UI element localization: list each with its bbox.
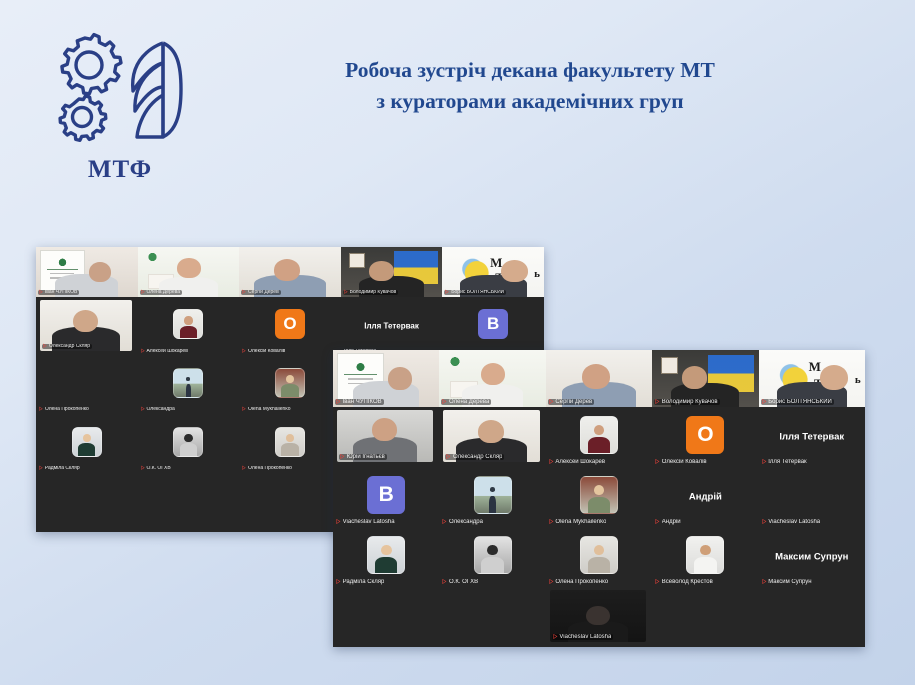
participant-name-badge: ▷Olena Mykhailenko (241, 407, 292, 412)
empty-gallery-slot (239, 473, 341, 532)
person-head (487, 545, 498, 556)
participant-name: Радміла Скляр (343, 579, 385, 585)
participant-name-badge: ▷Олександр Скляр (445, 454, 504, 460)
participant-tile[interactable]: ▷Юрій Ігнатьєв (333, 407, 439, 467)
mic-muted-icon: ▷ (43, 344, 46, 349)
participant-tile[interactable]: ▷Viacheslav Latosha (546, 587, 652, 647)
person-torso (588, 497, 610, 513)
participant-name-badge: ▷Олексій Ковалів (241, 349, 287, 354)
mic-muted-icon: ▷ (340, 454, 344, 460)
participant-name: Володимир Кувачов (662, 399, 718, 405)
person-torso (281, 443, 298, 455)
gallery-row: ▷Радміла Скляр ▷О.К. ОГХВ ▷Олена Прокопе… (333, 527, 865, 587)
participant-name-badge: ▷Viacheslav Latosha (761, 519, 823, 525)
person-head (177, 258, 200, 278)
participant-tile[interactable]: Ілля Тетервак▷Ілля Тетервак (759, 407, 865, 467)
participant-video-tile[interactable]: ▷Viacheslav Latosha (550, 590, 646, 642)
participant-name-badge: ▷Володимир Кувачов (654, 399, 719, 405)
person-head (274, 259, 300, 281)
participant-name-badge: ▷Володимир Кувачов (343, 290, 398, 295)
participant-name-badge: ▷Радміла Скляр (335, 579, 386, 585)
mic-muted-icon: ▷ (446, 290, 449, 295)
participant-centered-name: Ілля Тетервак (759, 432, 865, 443)
cert-line (344, 374, 377, 375)
mic-muted-icon: ▷ (141, 407, 144, 412)
participant-name: Володимир Кувачов (350, 290, 397, 295)
person-head (490, 487, 495, 491)
participant-tile[interactable]: Максим Супрун▷Максим Супрун (759, 527, 865, 587)
participant-name: Іван ЧУПІКОВ (343, 399, 382, 405)
participant-tile[interactable]: ▷Володимир Кувачов (652, 350, 758, 407)
participant-name: Сергій Дерев (555, 399, 592, 405)
picture-frame (661, 357, 678, 374)
participant-name: Viacheslav Latosha (768, 519, 820, 525)
participant-name: Viacheslav Latosha (343, 519, 395, 525)
mic-muted-icon: ▷ (549, 399, 553, 405)
participant-name-badge: ▷Олександра (140, 407, 177, 412)
page-title-line-1: Робоча зустріч декана факультету МТ (250, 55, 810, 86)
participant-tile[interactable]: М Т ь▷Борис БОЛТЯНСЬКИЙ (759, 350, 865, 407)
participant-name: Іван ЧУПІКОВ (45, 290, 78, 295)
participant-name: Борис БОЛТЯНСЬКИЙ (768, 399, 832, 405)
empty-gallery-slot (652, 587, 758, 647)
participant-name: Олександр Скляр (453, 454, 502, 460)
poster-text: ь (534, 268, 540, 280)
mic-muted-icon: ▷ (656, 519, 660, 525)
mic-muted-icon: ▷ (243, 349, 246, 354)
participant-avatar-photo (474, 536, 512, 574)
participant-tile[interactable]: ▷Алексей Шокарев (138, 297, 240, 356)
person-torso (78, 443, 95, 455)
person-head (594, 545, 605, 556)
empty-gallery-slot (759, 587, 865, 647)
mic-muted-icon: ▷ (443, 519, 447, 525)
person-torso (694, 557, 716, 573)
participant-name-badge: ▷Олена Прокопенко (548, 579, 610, 585)
mic-muted-icon: ▷ (141, 290, 144, 295)
person-torso (180, 443, 197, 455)
mic-muted-icon: ▷ (39, 290, 42, 295)
cert-line (348, 378, 373, 379)
participant-avatar-photo (72, 427, 102, 457)
participant-tile[interactable]: ▷Olena Mykhailenko (239, 356, 341, 415)
participant-avatar-photo (275, 427, 305, 457)
participant-tile[interactable]: ▷Olena Mykhailenko (546, 467, 652, 527)
person-head (184, 316, 192, 324)
participant-avatar-photo (580, 536, 618, 574)
participant-tile[interactable]: М Т ь▷Борис БОЛТЯНСЬКИЙ (442, 247, 544, 297)
participant-name-badge: ▷Максим Супрун (761, 579, 814, 585)
mic-muted-icon: ▷ (656, 459, 660, 465)
person-torso (375, 557, 397, 573)
person-head (286, 434, 294, 442)
person-head (372, 418, 397, 441)
participant-avatar-photo (686, 536, 724, 574)
participant-name: Сергій Дерев (248, 290, 279, 295)
participant-name-badge: ▷Олександр Скляр (42, 344, 92, 349)
mic-muted-icon: ▷ (141, 466, 144, 471)
participant-name: Олена Дерева (146, 290, 180, 295)
person-torso (588, 557, 610, 573)
participant-tile[interactable]: ▷Олена Прокопенко (36, 356, 138, 415)
participant-tile[interactable]: ▷Олександр Скляр (36, 297, 138, 356)
mic-muted-icon: ▷ (344, 290, 347, 295)
person-head (89, 262, 111, 282)
participant-name: Олена Дерева (449, 399, 489, 405)
participant-centered-name: Андрій (652, 492, 758, 503)
page-title: Робоча зустріч декана факультету МТ з ку… (250, 55, 810, 116)
mic-muted-icon: ▷ (447, 454, 451, 460)
leaf-icon (57, 257, 68, 266)
participant-name: Ілля Тетервак (768, 459, 807, 465)
mic-muted-icon: ▷ (336, 399, 340, 405)
participant-tile[interactable]: ▷Олександра (138, 356, 240, 415)
participant-avatar-photo (173, 427, 203, 457)
person-torso (588, 437, 610, 453)
person-head (184, 434, 192, 442)
participant-name-badge: ▷Алексей Шокарев (548, 459, 607, 465)
leaf-icon (355, 361, 367, 371)
participant-tile[interactable]: ▷Олена Прокопенко (546, 527, 652, 587)
participant-name: Олександра (146, 407, 174, 412)
participant-video-tile[interactable]: ▷Юрій Ігнатьєв (337, 410, 433, 462)
participant-name-badge: ▷Viacheslav Latosha (552, 634, 614, 640)
mic-muted-icon: ▷ (549, 459, 553, 465)
mic-muted-icon: ▷ (243, 407, 246, 412)
mic-muted-icon: ▷ (549, 519, 553, 525)
cert-line (47, 269, 79, 270)
logo-label: МТФ (88, 156, 152, 184)
mic-muted-icon: ▷ (656, 399, 660, 405)
participant-name: Олександра (449, 519, 483, 525)
participant-name: О.К. ОГХВ (449, 579, 478, 585)
participant-avatar-initial: О (686, 416, 724, 454)
person-head (73, 310, 98, 332)
participant-tile[interactable]: ▷Сергій Дерев (239, 247, 341, 297)
participant-avatar-photo (474, 476, 512, 514)
gallery-row: В▷Viacheslav Latosha ▷Олександра ▷Olena … (333, 467, 865, 527)
participant-video-tile[interactable]: ▷Олександр Скляр (40, 300, 132, 351)
participant-avatar-photo (173, 309, 203, 339)
person-torso (481, 557, 503, 573)
participant-name-badge: ▷Борис БОЛТЯНСЬКИЙ (444, 290, 506, 295)
participant-name: Алексей Шокарев (146, 349, 187, 354)
mic-muted-icon: ▷ (443, 399, 447, 405)
participant-name-badge: ▷О.К. ОГХВ (140, 466, 173, 471)
person-head (594, 485, 605, 496)
active-speaker-strip: ▷Іван ЧУПІКОВ ▷Олена Дерева▷Сергій Дерев… (333, 350, 865, 407)
participant-avatar-initial: В (367, 476, 405, 514)
participant-name: Viacheslav Latosha (559, 634, 611, 640)
participant-name-badge: ▷Юрій Ігнатьєв (339, 454, 387, 460)
mic-muted-icon: ▷ (39, 407, 42, 412)
participant-tile[interactable]: ▷Радміла Скляр (333, 527, 439, 587)
gallery-row: ▷Юрій Ігнатьєв▷Олександр Скляр ▷Алексей … (333, 407, 865, 467)
front-meeting-screenshot[interactable]: ▷Іван ЧУПІКОВ ▷Олена Дерева▷Сергій Дерев… (333, 350, 865, 647)
mic-muted-icon: ▷ (553, 634, 557, 640)
participant-tile[interactable]: ▷Viacheslav Latosha (759, 467, 865, 527)
mic-muted-icon: ▷ (443, 579, 447, 585)
participant-name-badge: ▷Олена Прокопенко (38, 407, 91, 412)
participant-tile[interactable]: О▷Олексій Ковалів (652, 407, 758, 467)
mic-muted-icon: ▷ (336, 519, 340, 525)
mic-muted-icon: ▷ (336, 579, 340, 585)
participant-name: Юрій Ігнатьєв (347, 454, 385, 460)
person-head (820, 365, 848, 390)
participant-video-tile[interactable]: ▷Олександр Скляр (443, 410, 539, 462)
mic-muted-icon: ▷ (549, 579, 553, 585)
poster-letter-m: М (809, 359, 821, 375)
participant-tile[interactable]: ▷Радміла Скляр (36, 415, 138, 474)
participant-name: Olena Mykhailenko (248, 407, 291, 412)
empty-gallery-slot (439, 587, 545, 647)
participant-tile[interactable]: ▷О.К. ОГХВ (138, 415, 240, 474)
person-head (83, 434, 91, 442)
participant-name-badge: ▷Олена Дерева (140, 290, 182, 295)
participant-name: Андрій (662, 519, 681, 525)
person-head (286, 375, 294, 383)
person-head (388, 367, 411, 390)
participant-name: Олексій Ковалів (248, 349, 285, 354)
mic-muted-icon: ▷ (762, 399, 766, 405)
gallery-row: ▷Viacheslav Latosha (333, 587, 865, 647)
participant-name: Олена Прокопенко (248, 466, 292, 471)
page-title-line-2: з кураторами академічних груп (250, 86, 810, 117)
person-head (478, 420, 504, 443)
participant-tile[interactable]: О▷Олексій Ковалів (239, 297, 341, 356)
participant-name-badge: ▷Олена Прокопенко (241, 466, 294, 471)
person-head (582, 364, 610, 389)
participant-tile[interactable]: ▷Олена Дерева (439, 350, 545, 407)
participant-name-badge: ▷Радміла Скляр (38, 466, 82, 471)
empty-gallery-slot (36, 473, 138, 532)
gears-leaf-logo-icon (45, 25, 195, 150)
participant-name-badge: ▷Viacheslav Latosha (335, 519, 397, 525)
participant-name-badge: ▷Олександра (441, 519, 485, 525)
participant-name: Олена Прокопенко (555, 579, 608, 585)
participant-avatar-initial: О (275, 309, 305, 339)
person-torso (180, 326, 197, 338)
participant-name-badge: ▷Олена Дерева (441, 399, 491, 405)
participant-name-badge: ▷Алексей Шокарев (140, 349, 190, 354)
participant-avatar-photo (580, 416, 618, 454)
participant-avatar-photo (367, 536, 405, 574)
participant-tile[interactable]: ▷О.К. ОГХВ (439, 527, 545, 587)
participant-name: Olena Mykhailenko (555, 519, 606, 525)
participant-name-badge: ▷Сергій Дерев (548, 399, 594, 405)
leaf-icon (448, 355, 462, 366)
person-torso (489, 496, 495, 513)
participant-tile[interactable]: Ілля ТетервакІлля Тетервак (341, 297, 443, 356)
participant-tile[interactable]: ▷Олександра (439, 467, 545, 527)
person-head (481, 363, 505, 386)
participant-tile[interactable]: ▷Олена Прокопенко (239, 415, 341, 474)
participant-avatar-photo (580, 476, 618, 514)
participant-tile[interactable]: ▷Сергій Дерев (546, 350, 652, 407)
participant-tile[interactable]: В▷Viacheslav Latosha (333, 467, 439, 527)
participant-name-badge: ▷Всеволод Крестов (654, 579, 715, 585)
person-head (594, 425, 605, 436)
participant-avatar-photo (173, 368, 203, 398)
participant-name-badge: ▷Іван ЧУПІКОВ (38, 290, 79, 295)
participant-name: Олексій Ковалів (662, 459, 707, 465)
participant-gallery: ▷Юрій Ігнатьєв▷Олександр Скляр ▷Алексей … (333, 407, 865, 647)
person-head (186, 377, 190, 380)
participant-name-badge: ▷Ілля Тетервак (761, 459, 809, 465)
person-head (700, 545, 711, 556)
participant-name: Алексей Шокарев (555, 459, 605, 465)
person-torso (281, 384, 298, 396)
participant-name-badge: ▷Сергій Дерев (241, 290, 281, 295)
participant-centered-name: Максим Супрун (759, 552, 865, 563)
mic-muted-icon: ▷ (762, 459, 766, 465)
empty-gallery-slot (333, 587, 439, 647)
mic-muted-icon: ▷ (243, 290, 246, 295)
participant-name-badge: ▷Борис БОЛТЯНСЬКИЙ (761, 399, 834, 405)
participant-name-badge: ▷Андрій (654, 519, 682, 525)
participant-name: Всеволод Крестов (662, 579, 713, 585)
participant-name-badge: ▷Олексій Ковалів (654, 459, 708, 465)
participant-tile[interactable]: Андрій▷Андрій (652, 467, 758, 527)
person-head (381, 545, 392, 556)
participant-name: Олена Прокопенко (45, 407, 89, 412)
participant-name-badge: ▷Olena Mykhailenko (548, 519, 609, 525)
empty-gallery-slot (138, 473, 240, 532)
picture-frame (349, 253, 365, 268)
participant-avatar-initial: В (478, 309, 508, 339)
mic-muted-icon: ▷ (39, 466, 42, 471)
participant-tile[interactable]: ▷Всеволод Крестов (652, 527, 758, 587)
poster-text: ь (855, 374, 861, 386)
person-head (682, 366, 708, 389)
participant-name: О.К. ОГХВ (146, 466, 170, 471)
person-torso (186, 384, 191, 397)
participant-centered-name: Ілля Тетервак (341, 322, 443, 331)
mic-muted-icon: ▷ (243, 466, 246, 471)
participant-name: Максим Супрун (768, 579, 811, 585)
participant-tile[interactable]: ▷Іван ЧУПІКОВ (36, 247, 138, 297)
mic-muted-icon: ▷ (141, 349, 144, 354)
participant-tile[interactable]: ▷Алексей Шокарев (546, 407, 652, 467)
gallery-row: ▷Олександр Скляр ▷Алексей ШокаревО▷Олекс… (36, 297, 544, 356)
participant-tile[interactable]: ▷Володимир Кувачов (341, 247, 443, 297)
participant-tile[interactable]: ▷Олена Дерева (138, 247, 240, 297)
participant-tile[interactable]: ▷Іван ЧУПІКОВ (333, 350, 439, 407)
participant-name: Борис БОЛТЯНСЬКИЙ (451, 290, 504, 295)
person-head (501, 260, 527, 282)
mic-muted-icon: ▷ (762, 519, 766, 525)
mic-muted-icon: ▷ (656, 579, 660, 585)
faculty-logo-block: МТФ (40, 25, 200, 200)
person-head (369, 261, 393, 281)
participant-name-badge: ▷О.К. ОГХВ (441, 579, 480, 585)
mic-muted-icon: ▷ (762, 579, 766, 585)
participant-avatar-photo (275, 368, 305, 398)
participant-tile[interactable]: В (442, 297, 544, 356)
participant-tile[interactable]: ▷Олександр Скляр (439, 407, 545, 467)
page-header: МТФ Робоча зустріч декана факультету МТ … (0, 0, 915, 225)
participant-name: Олександр Скляр (49, 344, 90, 349)
participant-name: Радміла Скляр (45, 466, 80, 471)
participant-name-badge: ▷Іван ЧУПІКОВ (335, 399, 384, 405)
person-head (586, 606, 609, 626)
leaf-icon (146, 251, 159, 261)
active-speaker-strip: ▷Іван ЧУПІКОВ ▷Олена Дерева▷Сергій Дерев… (36, 247, 544, 297)
